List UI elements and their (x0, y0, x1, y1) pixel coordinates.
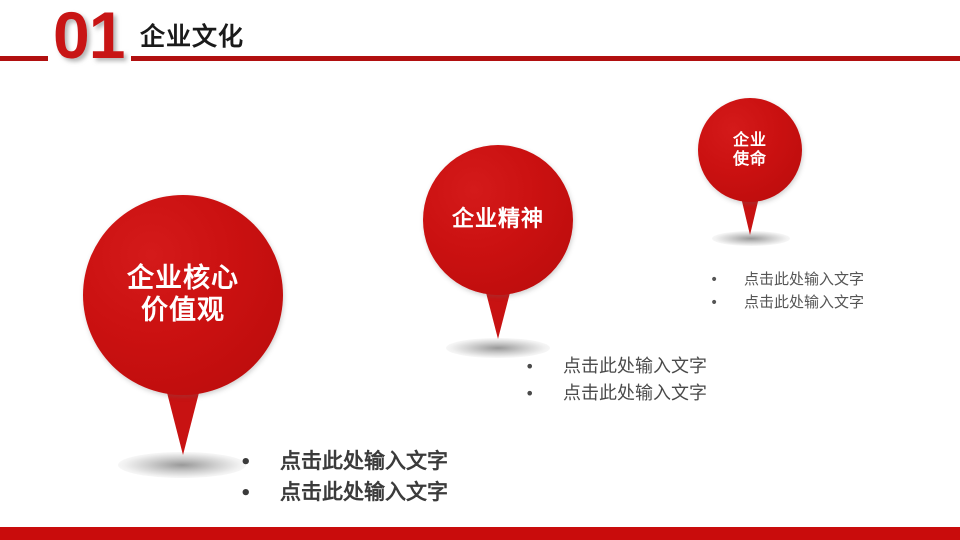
pin-label: 企业核心 价值观 (127, 263, 239, 327)
bullet-marker-icon: • (240, 454, 280, 472)
page-title: 企业文化 (140, 23, 244, 52)
list-item[interactable]: • 点击此处输入文字 (525, 379, 707, 406)
bullet-text: 点击此处输入文字 (744, 268, 864, 289)
list-item[interactable]: • 点击此处输入文字 (710, 268, 864, 291)
pin-circle[interactable]: 企业核心 价值观 (83, 195, 283, 395)
bullet-text: 点击此处输入文字 (280, 445, 448, 475)
bullet-marker-icon: • (710, 296, 744, 310)
header-rule-left (0, 56, 48, 61)
header-rule-right (131, 56, 960, 61)
pin-circle[interactable]: 企业精神 (423, 145, 573, 295)
bullet-list-core-values: • 点击此处输入文字 • 点击此处输入文字 (240, 445, 448, 507)
section-number: 01 (53, 2, 124, 68)
list-item[interactable]: • 点击此处输入文字 (240, 445, 448, 476)
pin-label: 企业 使命 (733, 131, 767, 169)
list-item[interactable]: • 点击此处输入文字 (240, 476, 448, 507)
bullet-text: 点击此处输入文字 (563, 379, 707, 405)
list-item[interactable]: • 点击此处输入文字 (525, 352, 707, 379)
slide-canvas: 01 企业文化 企业核心 价值观 • 点击此处输入文字 • 点击此处输入文字 企… (0, 0, 960, 540)
bullet-marker-icon: • (525, 386, 563, 402)
bullet-marker-icon: • (525, 359, 563, 375)
pin-shadow (118, 452, 246, 478)
pin-circle[interactable]: 企业 使命 (698, 98, 802, 202)
bullet-list-spirit: • 点击此处输入文字 • 点击此处输入文字 (525, 352, 707, 406)
pin-label: 企业精神 (452, 207, 544, 233)
list-item[interactable]: • 点击此处输入文字 (710, 291, 864, 314)
bullet-text: 点击此处输入文字 (563, 352, 707, 378)
footer-bar (0, 527, 960, 540)
bullet-marker-icon: • (240, 485, 280, 503)
bullet-text: 点击此处输入文字 (280, 476, 448, 506)
bullet-marker-icon: • (710, 273, 744, 287)
bullet-list-mission: • 点击此处输入文字 • 点击此处输入文字 (710, 268, 864, 314)
bullet-text: 点击此处输入文字 (744, 291, 864, 312)
